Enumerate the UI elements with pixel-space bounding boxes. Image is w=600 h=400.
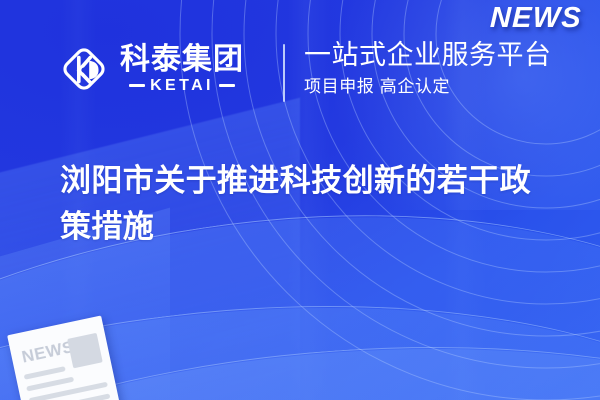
news-banner: 科泰集团 KETAI 一站式企业服务平台 项目申报 高企认定 NEWS 浏阳市关… [0,0,600,400]
logo-rule-right [219,84,235,87]
tagline-block: 一站式企业服务平台 项目申报 高企认定 [304,40,552,97]
ketai-monogram-icon [58,42,110,96]
tagline-primary: 一站式企业服务平台 [304,40,552,72]
brand-lockup: 科泰集团 KETAI [58,42,244,96]
logo-name-en: KETAI [150,78,214,94]
news-wordmark: NEWS [490,4,583,33]
page-title: 浏阳市关于推进科技创新的若干政策措施 [60,158,560,249]
logo-en-row: KETAI [129,78,235,94]
logo-rule-left [129,84,145,87]
header-divider [283,44,285,102]
logo-name-cn: 科泰集团 [120,44,244,76]
tagline-secondary: 项目申报 高企认定 [304,77,552,97]
banner-header: 科泰集团 KETAI 一站式企业服务平台 项目申报 高企认定 NEWS [0,0,600,132]
logo-wordmark: 科泰集团 KETAI [120,44,244,94]
newspaper-icon: NEWS [2,308,130,400]
